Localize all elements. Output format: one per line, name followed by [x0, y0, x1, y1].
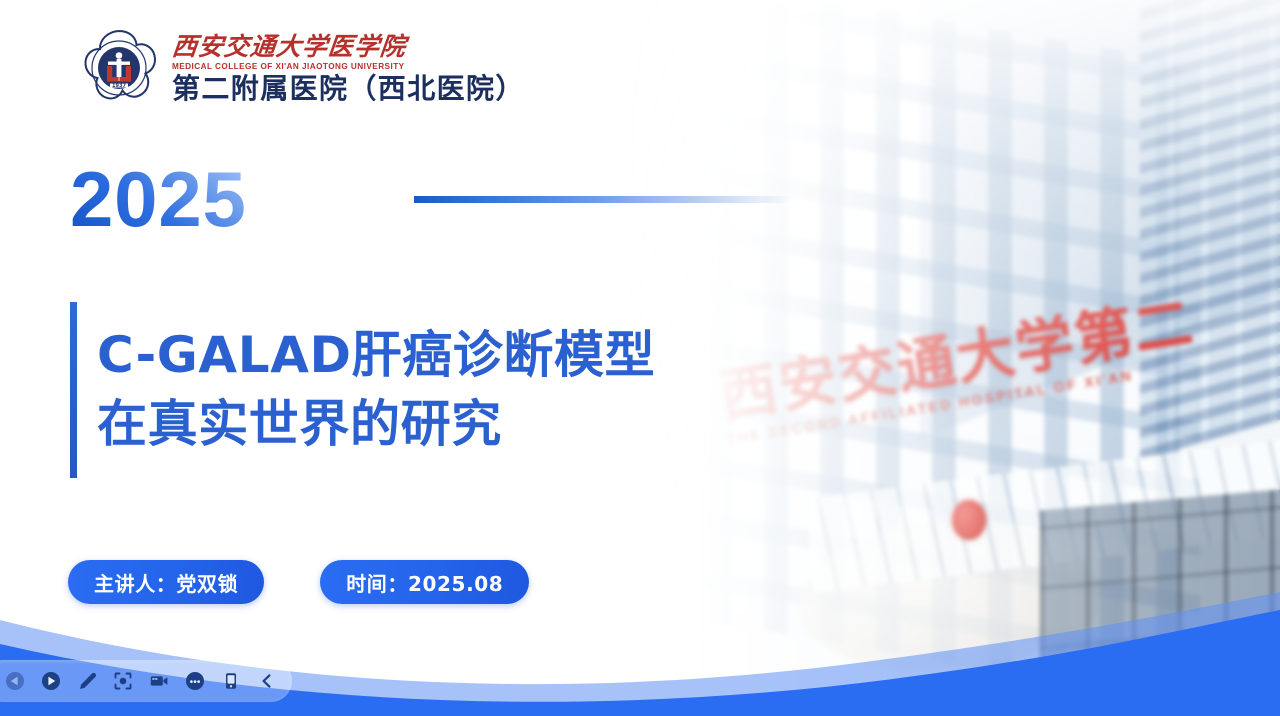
title-divider-rule: [414, 196, 792, 203]
speaker-badge: 主讲人：党双锁: [68, 560, 264, 604]
play-button[interactable]: [40, 670, 62, 692]
title-line-1: C-GALAD肝癌诊断模型: [97, 321, 655, 390]
chevron-left-icon: [257, 671, 277, 691]
play-right-circle-icon: [41, 671, 61, 691]
svg-text:1937: 1937: [112, 83, 126, 89]
pencil-icon: [77, 671, 97, 691]
hospital-logo-lockup: 1937 西安交通大学医学院 MEDICAL COLLEGE OF XI'AN …: [80, 28, 525, 112]
collapse-toolbar-button[interactable]: [256, 670, 278, 692]
previous-slide-button[interactable]: [4, 670, 26, 692]
video-camera-icon: [149, 671, 169, 691]
play-left-circle-icon: [5, 671, 25, 691]
medical-college-en: MEDICAL COLLEGE OF XI'AN JIAOTONG UNIVER…: [172, 62, 525, 71]
title-accent-bar: [70, 302, 77, 478]
ellipsis-circle-icon: [185, 671, 205, 691]
scan-frame-icon: [113, 671, 133, 691]
presentation-slide: 西安交通大学第二 THE SECOND AFFILIATED HOSPITAL …: [0, 0, 1280, 716]
mobile-phone-icon: [221, 671, 241, 691]
slide-control-toolbar[interactable]: [0, 660, 292, 702]
annotate-button[interactable]: [76, 670, 98, 692]
mobile-control-button[interactable]: [220, 670, 242, 692]
title-line-2: 在真实世界的研究: [97, 390, 655, 459]
more-button[interactable]: [184, 670, 206, 692]
medical-college-cn: 西安交通大学医学院: [171, 35, 527, 61]
slide-title: C-GALAD肝癌诊断模型 在真实世界的研究: [70, 302, 655, 478]
screenshot-button[interactable]: [112, 670, 134, 692]
record-button[interactable]: [148, 670, 170, 692]
hospital-name-cn: 第二附属医院（西北医院）: [172, 73, 525, 105]
year-heading: 2025: [70, 160, 247, 238]
hospital-emblem-icon: 1937: [80, 28, 158, 112]
date-badge: 时间：2025.08: [320, 560, 529, 604]
slide-meta-row: 主讲人：党双锁 时间：2025.08: [68, 560, 529, 604]
